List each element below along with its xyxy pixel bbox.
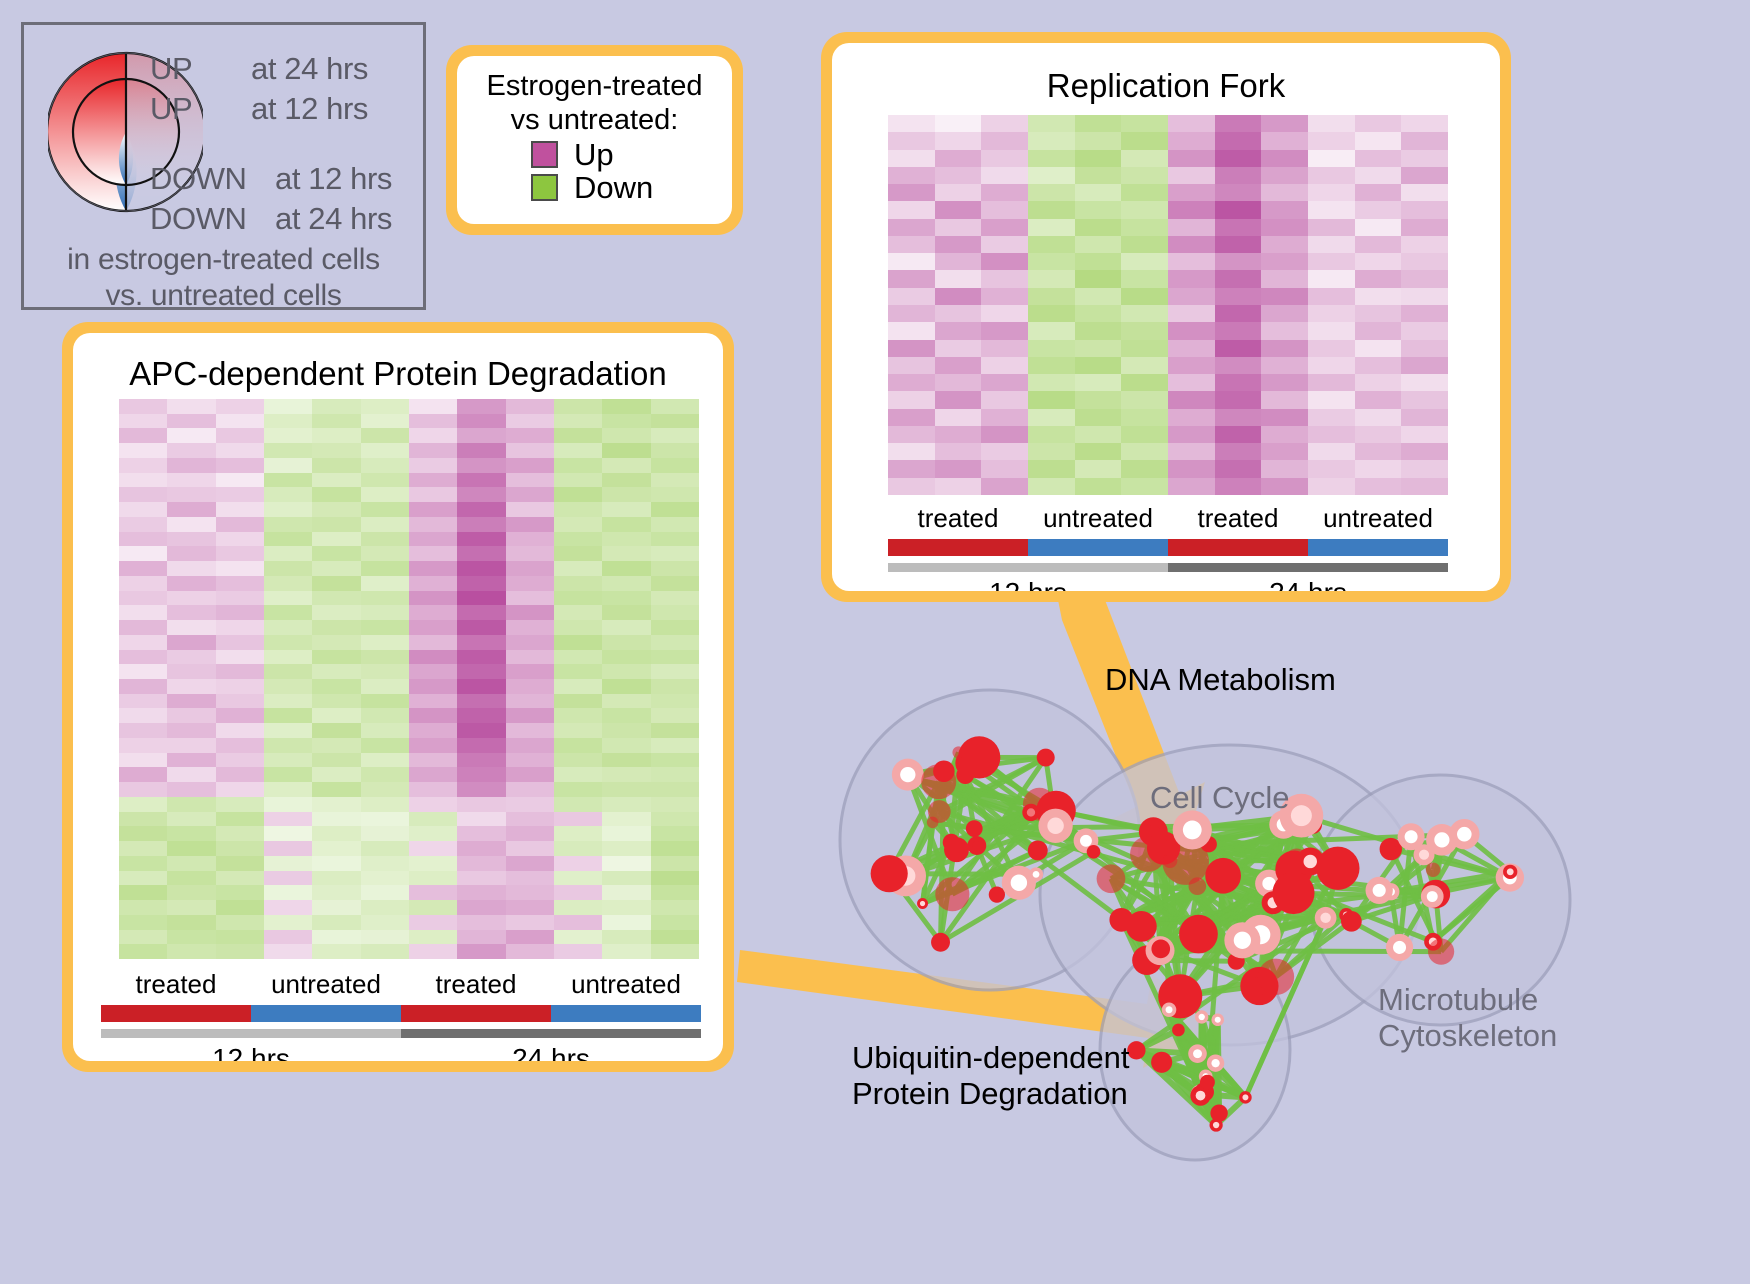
heatmap-cell xyxy=(457,723,505,738)
heatmap-cell xyxy=(981,219,1028,236)
heatmap-cell xyxy=(935,219,982,236)
heatmap-cell xyxy=(167,546,215,561)
heatmap-cell xyxy=(457,885,505,900)
heatmap-cell xyxy=(1028,236,1075,253)
network-graph[interactable] xyxy=(800,610,1750,1279)
heatmap-cell xyxy=(651,428,699,443)
heatmap-cell xyxy=(888,340,935,357)
heatmap-cell xyxy=(409,650,457,665)
heatmap-cell xyxy=(651,767,699,782)
heatmap-cell xyxy=(1261,288,1308,305)
heatmap-cell xyxy=(409,812,457,827)
heatmap-cell xyxy=(361,944,409,959)
heatmap-cell xyxy=(457,605,505,620)
colorwheel-row-2-time: at 12 hrs xyxy=(275,161,392,197)
heatmap-cell xyxy=(651,605,699,620)
heatmap-cell xyxy=(888,391,935,408)
heatmap-cell xyxy=(1261,201,1308,218)
heatmap-cell xyxy=(457,591,505,606)
heatmap-cell xyxy=(409,414,457,429)
heatmap-cell xyxy=(1355,340,1402,357)
apc-condition-labels: treated untreated treated untreated xyxy=(101,969,701,1000)
heatmap-cell xyxy=(888,270,935,287)
heatmap-cell xyxy=(602,694,650,709)
heatmap-cell xyxy=(312,841,360,856)
heatmap-cell xyxy=(167,428,215,443)
heatmap-cell xyxy=(312,856,360,871)
heatmap-cell xyxy=(1261,426,1308,443)
heatmap-cell xyxy=(457,664,505,679)
heatmap-cell xyxy=(1355,443,1402,460)
heatmap-cell xyxy=(1215,322,1262,339)
heatmap-cell xyxy=(602,856,650,871)
heatmap-cell xyxy=(1075,270,1122,287)
heatmap-cell xyxy=(554,856,602,871)
heatmap-cell xyxy=(602,591,650,606)
network-node[interactable] xyxy=(1210,1104,1227,1121)
heatmap-cell xyxy=(312,605,360,620)
network-node[interactable] xyxy=(927,817,939,829)
heatmap-cell xyxy=(119,502,167,517)
heatmap-cell xyxy=(602,708,650,723)
heatmap-cell xyxy=(167,605,215,620)
heatmap-cell xyxy=(361,561,409,576)
heatmap-cell xyxy=(1168,340,1215,357)
colorwheel-row-2-direction: DOWN xyxy=(150,161,247,197)
heatmap-cell xyxy=(506,885,554,900)
heatmap-cell xyxy=(361,723,409,738)
heatmap-cell xyxy=(1075,219,1122,236)
network-node-core xyxy=(1183,821,1202,840)
heatmap-cell xyxy=(1028,426,1075,443)
heatmap-cell xyxy=(981,460,1028,477)
heatmap-cell xyxy=(1401,270,1448,287)
heatmap-cell xyxy=(1028,409,1075,426)
network-node[interactable] xyxy=(1258,959,1294,995)
heatmap-cell xyxy=(888,236,935,253)
heatmap-cell xyxy=(409,826,457,841)
time-label-12: 12 hrs xyxy=(888,577,1168,591)
heatmap-cell xyxy=(602,428,650,443)
network-node[interactable] xyxy=(966,820,983,837)
heatmap-cell xyxy=(1308,219,1355,236)
heatmap-cell xyxy=(312,782,360,797)
heatmap-cell xyxy=(1028,460,1075,477)
heatmap-cell xyxy=(651,900,699,915)
heatmap-cell xyxy=(1215,184,1262,201)
heatmap-cell xyxy=(1075,236,1122,253)
heatmap-cell xyxy=(361,738,409,753)
heatmap-cell xyxy=(1401,426,1448,443)
heatmap-cell xyxy=(554,812,602,827)
apc-time-labels: 12 hrs 24 hrs xyxy=(101,1043,701,1061)
heatmap-cell xyxy=(312,620,360,635)
network-node[interactable] xyxy=(933,760,955,782)
heatmap-cell xyxy=(506,443,554,458)
heatmap-cell xyxy=(651,502,699,517)
heatmap-cell xyxy=(602,605,650,620)
heatmap-cell xyxy=(457,812,505,827)
legend-item-up[interactable]: Up xyxy=(531,139,722,170)
up-color-swatch xyxy=(531,141,558,168)
heatmap-cell xyxy=(1168,409,1215,426)
heatmap-cell xyxy=(312,753,360,768)
heatmap-cell xyxy=(981,340,1028,357)
heatmap-cell xyxy=(409,546,457,561)
heatmap-cell xyxy=(1308,460,1355,477)
heatmap-cell xyxy=(119,738,167,753)
heatmap-cell xyxy=(457,694,505,709)
heatmap-cell xyxy=(167,723,215,738)
network-node-core xyxy=(1320,913,1330,923)
network-node[interactable] xyxy=(1428,939,1454,965)
network-node[interactable] xyxy=(935,877,969,911)
heatmap-cell xyxy=(119,782,167,797)
heatmap-cell xyxy=(1075,374,1122,391)
heatmap-cell xyxy=(216,428,264,443)
network-node-core xyxy=(1434,832,1449,847)
heatmap-cell xyxy=(457,502,505,517)
heatmap-cell xyxy=(264,532,312,547)
heatmap-cell xyxy=(216,944,264,959)
heatmap-cell xyxy=(216,546,264,561)
heatmap-cell xyxy=(119,767,167,782)
heatmap-cell xyxy=(602,753,650,768)
heatmap-cell xyxy=(888,478,935,495)
heatmap-cell xyxy=(216,502,264,517)
heatmap-cell xyxy=(457,753,505,768)
heatmap-cell xyxy=(167,708,215,723)
colorwheel-row-0-direction: UP xyxy=(150,51,192,87)
heatmap-cell xyxy=(1215,357,1262,374)
heatmap-cell xyxy=(651,399,699,414)
heatmap-cell xyxy=(409,738,457,753)
heatmap-cell xyxy=(1261,478,1308,495)
network-node[interactable] xyxy=(931,933,950,952)
heatmap-cell xyxy=(264,473,312,488)
heatmap-cell xyxy=(119,900,167,915)
heatmap-cell xyxy=(457,738,505,753)
heatmap-cell xyxy=(554,738,602,753)
network-node[interactable] xyxy=(1151,940,1170,959)
network-node[interactable] xyxy=(989,886,1005,902)
timepoint-bar-24 xyxy=(401,1029,701,1038)
heatmap-cell xyxy=(361,517,409,532)
network-node[interactable] xyxy=(958,736,1000,778)
heatmap-cell xyxy=(167,532,215,547)
apc-degradation-heatmap[interactable] xyxy=(119,399,699,959)
heatmap-cell xyxy=(935,322,982,339)
heatmap-cell xyxy=(1261,357,1308,374)
heatmap-cell xyxy=(216,826,264,841)
heatmap-cell xyxy=(1401,391,1448,408)
heatmap-cell xyxy=(1168,391,1215,408)
heatmap-cell xyxy=(119,826,167,841)
heatmap-cell xyxy=(651,694,699,709)
heatmap-cell xyxy=(602,841,650,856)
network-node[interactable] xyxy=(1028,840,1048,860)
heatmap-cell xyxy=(602,930,650,945)
treated-bar-12 xyxy=(101,1005,251,1022)
heatmap-cell xyxy=(602,944,650,959)
network-node[interactable] xyxy=(871,855,908,892)
heatmap-cell xyxy=(167,753,215,768)
network-node[interactable] xyxy=(1426,863,1440,877)
heatmap-cell xyxy=(1168,201,1215,218)
heatmap-cell xyxy=(1401,253,1448,270)
heatmap-cell xyxy=(361,797,409,812)
heatmap-cell xyxy=(167,885,215,900)
heatmap-cell xyxy=(602,826,650,841)
heatmap-cell xyxy=(506,532,554,547)
heatmap-cell xyxy=(361,502,409,517)
heatmap-cell xyxy=(264,915,312,930)
heatmap-cell xyxy=(361,399,409,414)
network-node[interactable] xyxy=(1316,847,1359,890)
colorwheel-caption-line1: in estrogen-treated cells xyxy=(24,243,423,277)
heatmap-cell xyxy=(264,841,312,856)
heatmap-cell xyxy=(457,517,505,532)
heatmap-cell xyxy=(361,532,409,547)
network-node-core xyxy=(1373,884,1386,897)
heatmap-cell xyxy=(264,723,312,738)
heatmap-cell xyxy=(361,900,409,915)
heatmap-cell xyxy=(506,635,554,650)
replication-fork-panel: Replication Fork treated untreated treat… xyxy=(821,32,1511,602)
heatmap-cell xyxy=(457,428,505,443)
heatmap-cell xyxy=(506,650,554,665)
heatmap-cell xyxy=(981,443,1028,460)
heatmap-cell xyxy=(216,782,264,797)
network-node[interactable] xyxy=(1109,908,1133,932)
network-node-core xyxy=(900,767,915,782)
apc-timepoint-bar xyxy=(101,1029,701,1038)
heatmap-cell xyxy=(1075,478,1122,495)
heatmap-cell xyxy=(651,532,699,547)
network-node-core xyxy=(1234,932,1251,949)
heatmap-cell xyxy=(888,426,935,443)
heatmap-cell xyxy=(457,561,505,576)
heatmap-cell xyxy=(506,812,554,827)
heatmap-cell xyxy=(312,399,360,414)
heatmap-cell xyxy=(216,708,264,723)
treated-bar-24 xyxy=(401,1005,551,1022)
heatmap-cell xyxy=(935,270,982,287)
heatmap-cell xyxy=(264,856,312,871)
heatmap-cell xyxy=(264,502,312,517)
heatmap-cell xyxy=(264,487,312,502)
condition-label-0: treated xyxy=(888,503,1028,534)
time-label-12: 12 hrs xyxy=(101,1043,401,1061)
heatmap-cell xyxy=(506,782,554,797)
heatmap-cell xyxy=(1121,270,1168,287)
replication-fork-timepoint-bar xyxy=(888,563,1448,572)
network-node-core xyxy=(1033,871,1040,878)
network-node-core xyxy=(1215,1017,1221,1023)
heatmap-cell xyxy=(981,288,1028,305)
heatmap-cell xyxy=(1261,391,1308,408)
heatmap-cell xyxy=(312,546,360,561)
heatmap-cell xyxy=(935,409,982,426)
network-node[interactable] xyxy=(1163,853,1178,868)
heatmap-cell xyxy=(1401,305,1448,322)
heatmap-cell xyxy=(457,841,505,856)
heatmap-cell xyxy=(119,620,167,635)
heatmap-cell xyxy=(119,871,167,886)
heatmap-cell xyxy=(264,561,312,576)
heatmap-cell xyxy=(167,797,215,812)
heatmap-cell xyxy=(312,708,360,723)
heatmap-cell xyxy=(1215,478,1262,495)
network-diagram[interactable]: DNA Metabolism Cell Cycle Microtubule Cy… xyxy=(800,610,1750,1279)
heatmap-cell xyxy=(264,694,312,709)
heatmap-cell xyxy=(167,620,215,635)
heatmap-cell xyxy=(361,915,409,930)
heatmap-cell xyxy=(409,856,457,871)
heatmap-cell xyxy=(167,591,215,606)
network-node[interactable] xyxy=(952,746,964,758)
heatmap-cell xyxy=(264,399,312,414)
heatmap-cell xyxy=(167,871,215,886)
network-node[interactable] xyxy=(1097,864,1126,893)
heatmap-cell xyxy=(1401,132,1448,149)
heatmap-cell xyxy=(981,391,1028,408)
heatmap-cell xyxy=(602,885,650,900)
heatmap-cell xyxy=(409,620,457,635)
heatmap-cell xyxy=(361,826,409,841)
heatmap-cell xyxy=(1261,305,1308,322)
heatmap-cell xyxy=(888,288,935,305)
treated-bar-12 xyxy=(888,539,1028,556)
heatmap-cell xyxy=(554,826,602,841)
heatmap-cell xyxy=(935,305,982,322)
heatmap-cell xyxy=(1401,184,1448,201)
heatmap-cell xyxy=(506,428,554,443)
heatmap-cell xyxy=(312,532,360,547)
heatmap-cell xyxy=(457,414,505,429)
heatmap-cell xyxy=(935,426,982,443)
heatmap-cell xyxy=(1355,236,1402,253)
heatmap-cell xyxy=(216,885,264,900)
cluster-label-ubiquitin-degradation: Ubiquitin-dependent Protein Degradation xyxy=(852,1040,1130,1111)
heatmap-cell xyxy=(935,236,982,253)
heatmap-cell xyxy=(167,487,215,502)
network-node[interactable] xyxy=(1037,749,1055,767)
heatmap-cell xyxy=(554,414,602,429)
heatmap-cell xyxy=(1401,409,1448,426)
heatmap-cell xyxy=(216,414,264,429)
heatmap-cell xyxy=(1168,443,1215,460)
network-node[interactable] xyxy=(1200,1075,1215,1090)
heatmap-cell xyxy=(312,885,360,900)
heatmap-cell xyxy=(264,428,312,443)
heatmap-cell xyxy=(651,561,699,576)
heatmap-cell xyxy=(1168,478,1215,495)
network-node[interactable] xyxy=(1205,858,1241,894)
heatmap-cell xyxy=(1028,115,1075,132)
heatmap-cell xyxy=(1168,426,1215,443)
heatmap-cell xyxy=(361,576,409,591)
heatmap-cell xyxy=(119,664,167,679)
heatmap-cell xyxy=(119,605,167,620)
heatmap-cell xyxy=(1028,443,1075,460)
heatmap-cell xyxy=(312,591,360,606)
heatmap-cell xyxy=(1308,374,1355,391)
network-node[interactable] xyxy=(944,837,969,862)
heatmap-cell xyxy=(119,443,167,458)
network-node-core xyxy=(1385,844,1396,855)
heatmap-cell xyxy=(312,664,360,679)
heatmap-cell xyxy=(554,487,602,502)
heatmap-cell xyxy=(1075,322,1122,339)
heatmap-cell xyxy=(167,915,215,930)
heatmap-cell xyxy=(119,694,167,709)
heatmap-cell xyxy=(602,532,650,547)
colorwheel-row-3-time: at 24 hrs xyxy=(275,201,392,237)
condition-label-1: untreated xyxy=(1028,503,1168,534)
heatmap-cell xyxy=(1121,374,1168,391)
heatmap-cell xyxy=(1168,253,1215,270)
network-node[interactable] xyxy=(1273,872,1315,914)
network-node[interactable] xyxy=(1179,915,1218,954)
heatmap-cell xyxy=(506,517,554,532)
heatmap-cell xyxy=(981,253,1028,270)
heatmap-cell xyxy=(361,635,409,650)
heatmap-cell xyxy=(119,841,167,856)
heatmap-cell xyxy=(506,487,554,502)
heatmap-cell xyxy=(935,391,982,408)
heatmap-cell xyxy=(264,900,312,915)
heatmap-cell xyxy=(361,841,409,856)
heatmap-cell xyxy=(409,399,457,414)
heatmap-cell xyxy=(264,944,312,959)
network-node-core xyxy=(1198,1014,1204,1020)
heatmap-cell xyxy=(1215,201,1262,218)
heatmap-cell xyxy=(1355,460,1402,477)
heatmap-cell xyxy=(602,871,650,886)
heatmap-cell xyxy=(1355,167,1402,184)
heatmap-cell xyxy=(554,473,602,488)
heatmap-cell xyxy=(361,812,409,827)
heatmap-cell xyxy=(1401,115,1448,132)
heatmap-cell xyxy=(651,915,699,930)
heatmap-cell xyxy=(457,399,505,414)
heatmap-cell xyxy=(506,591,554,606)
heatmap-cell xyxy=(981,150,1028,167)
heatmap-cell xyxy=(981,236,1028,253)
legend-item-down[interactable]: Down xyxy=(531,172,722,203)
heatmap-cell xyxy=(554,723,602,738)
heatmap-cell xyxy=(409,782,457,797)
replication-fork-treatment-bar xyxy=(888,539,1448,556)
heatmap-cell xyxy=(1028,288,1075,305)
heatmap-cell xyxy=(216,915,264,930)
heatmap-cell xyxy=(1308,167,1355,184)
heatmap-cell xyxy=(119,561,167,576)
heatmap-cell xyxy=(1401,236,1448,253)
heatmap-cell xyxy=(1028,132,1075,149)
legend-label-up: Up xyxy=(574,139,614,170)
heatmap-cell xyxy=(554,517,602,532)
replication-fork-heatmap[interactable] xyxy=(888,115,1448,495)
heatmap-cell xyxy=(1308,357,1355,374)
heatmap-cell xyxy=(264,605,312,620)
network-node-core xyxy=(1242,1094,1248,1100)
network-node[interactable] xyxy=(1189,877,1207,895)
heatmap-cell xyxy=(457,767,505,782)
heatmap-cell xyxy=(506,841,554,856)
heatmap-cell xyxy=(1168,460,1215,477)
